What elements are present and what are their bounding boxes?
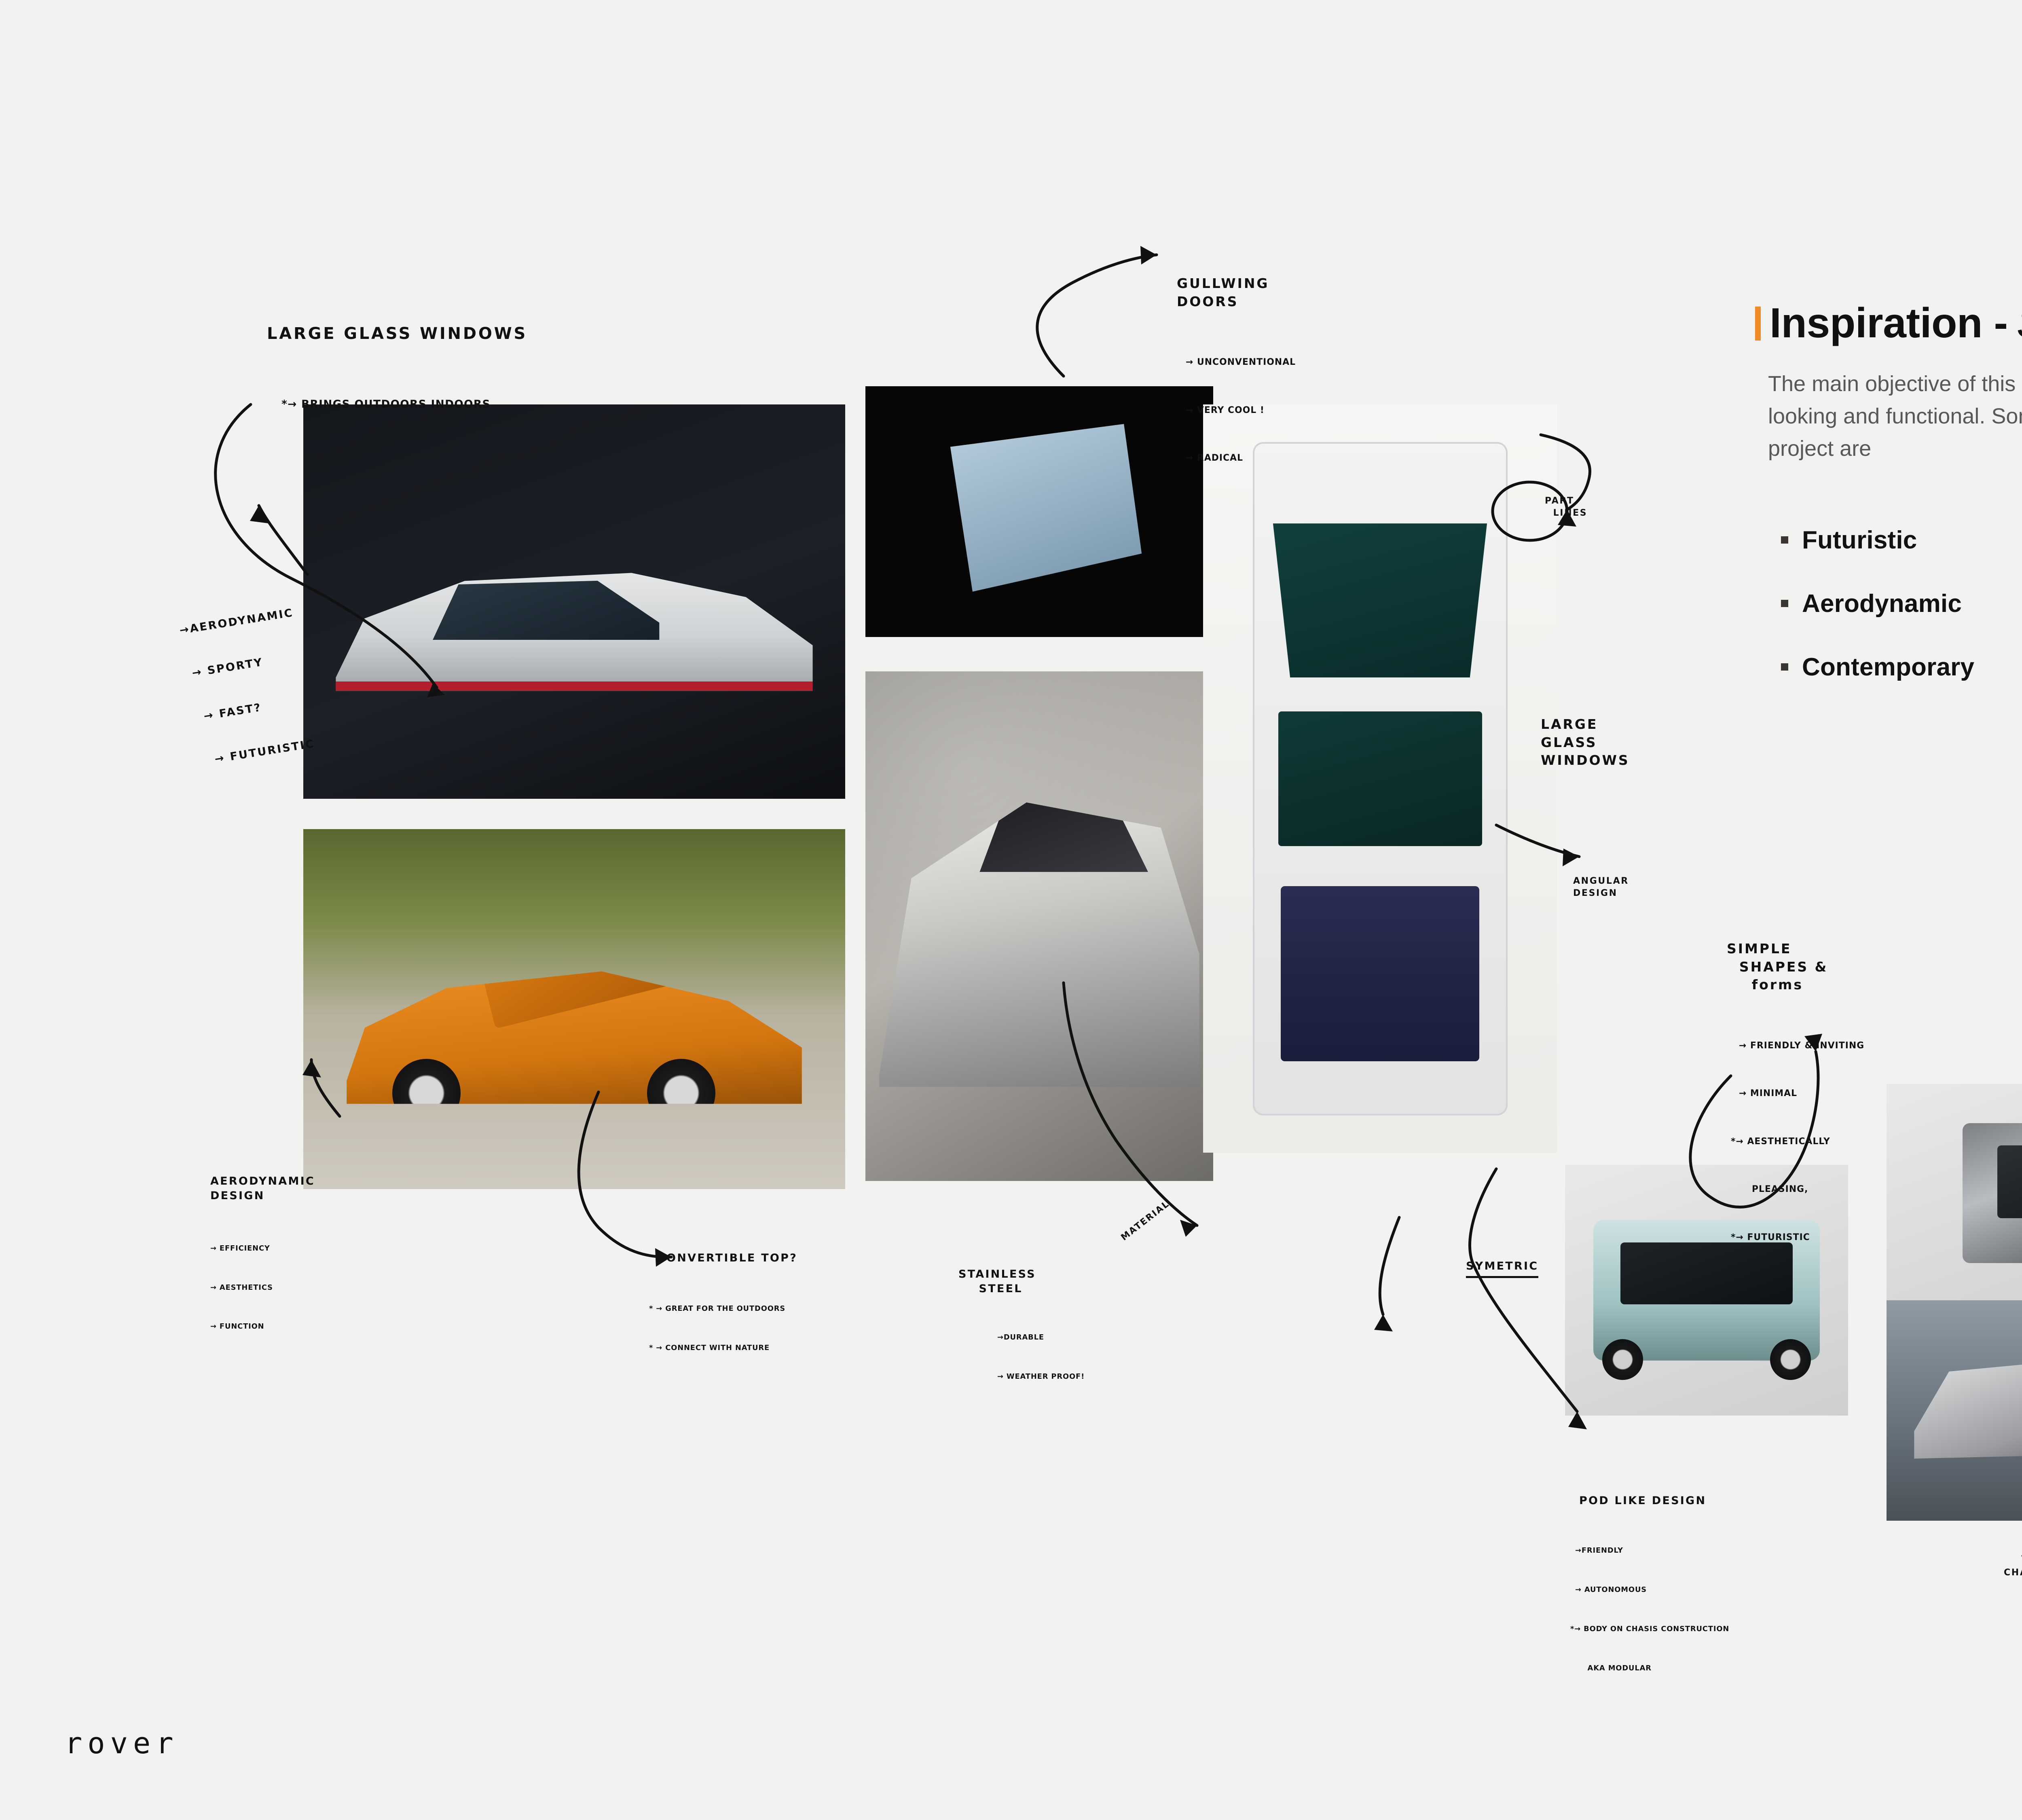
annotation-line: → EFFICIENCY [210, 1244, 315, 1253]
glass-volume [928, 416, 1151, 607]
annotation-line: →FRIENDLY [1575, 1546, 1729, 1555]
annotation-large-glass-windows-left: LARGE GLASS WINDOWS *→ BRINGS OUTDOORS I… [267, 279, 527, 455]
list-item: Contemporary [1781, 653, 2022, 681]
reference-image-camper-top-view-sketch [1203, 404, 1557, 1153]
objective-paragraph: The main objective of this project was t… [1768, 368, 2022, 465]
annotation-title: PART LINES [1545, 495, 1587, 519]
inspiration-text-panel: Inspiration - Styling&Form The main obje… [1755, 301, 2022, 716]
square-bullet-icon [1781, 536, 1788, 544]
annotation-title: ANGULAR DESIGN [1573, 875, 1629, 899]
annotation-line: → UNCONVENTIONAL [1186, 356, 1296, 368]
list-item: Futuristic [1781, 526, 2022, 554]
side-window [1278, 711, 1482, 846]
annotation-title: POD LIKE DESIGN [1579, 1494, 1729, 1508]
annotation-title: AERODYNAMIC DESIGN [210, 1174, 315, 1204]
annotation-title: LARGE GLASS WINDOWS [267, 323, 527, 345]
annotation-line: → AUTONOMOUS [1575, 1585, 1729, 1595]
title-italic: Styling&Form [2017, 301, 2022, 345]
car-silhouette [879, 783, 1199, 1099]
annotation-title: SYMETRIC [1466, 1259, 1538, 1278]
reference-image-wedge-concept-car [303, 404, 845, 799]
wheel [647, 1059, 715, 1127]
annotation-line: →DURABLE [997, 1333, 1085, 1342]
annotation-line: AKA MODULAR [1570, 1663, 1729, 1673]
annotation-line: → AESTHETICS [210, 1283, 315, 1293]
annotation-line: PLEASING, [1731, 1183, 1864, 1195]
wheel [1602, 1339, 1643, 1380]
cue-label: Aerodynamic [1802, 589, 1962, 618]
annotation-title: LARGE GLASS WINDOWS [1541, 715, 1630, 770]
annotation-aerodynamic-design: AERODYNAMIC DESIGN → EFFICIENCY → AESTHE… [210, 1145, 315, 1361]
annotation-stainless-steel: STAINLESS STEEL →DURABLE → WEATHER PROOF… [958, 1238, 1085, 1411]
annotation-title: SIMPLE SHAPES & forms [1727, 940, 1864, 994]
annotation-line: → MINIMAL [1739, 1088, 1864, 1099]
annotation-line: → FUTURISTIC [214, 736, 316, 767]
annotation-simple-shapes-forms: SIMPLE SHAPES & forms → FRIENDLY & INVIT… [1727, 904, 1864, 1279]
annotation-title: CHAMFERS [2004, 1567, 2022, 1579]
annotation-chamfers: CHAMFERS [2004, 1543, 2022, 1603]
window-panel [1997, 1145, 2022, 1218]
annotation-line: *→ BRINGS OUTDOORS INDOORS [281, 397, 527, 412]
car-silhouette [336, 562, 812, 696]
annotation-symetric: SYMETRIC [1466, 1230, 1538, 1308]
annotation-line: → WEATHER PROOF! [997, 1372, 1085, 1382]
aesthetic-cues-list: Futuristic Aerodynamic Contemporary [1781, 526, 2022, 681]
annotation-line: * → GREAT FOR THE OUTDOORS [649, 1304, 797, 1314]
annotation-line: → FAST? [203, 693, 309, 724]
cue-label: Futuristic [1802, 526, 1917, 554]
reference-image-autonomous-shuttle [1887, 1300, 2022, 1521]
rear-section [1281, 886, 1479, 1061]
reference-image-glass-box-concept [865, 386, 1213, 637]
annotation-material-callout: MATERIAL [1104, 1179, 1187, 1263]
annotation-gullwing-doors: GULLWING DOORS → UNCONVENTIONAL → VERY C… [1177, 239, 1296, 500]
page-title: Inspiration - Styling&Form [1755, 301, 2022, 345]
annotation-pod-like-design: POD LIKE DESIGN →FRIENDLY → AUTONOMOUS *… [1579, 1464, 1729, 1703]
annotation-line: → FUNCTION [210, 1322, 315, 1331]
annotation-line: → RADICAL [1186, 452, 1296, 464]
cue-label: Contemporary [1802, 653, 1974, 681]
reference-image-stainless-steel-body [865, 671, 1213, 1181]
annotation-part-lines: PART LINES [1545, 471, 1587, 543]
annotation-line: →AERODYNAMIC [178, 605, 295, 638]
reference-image-grey-pod-render [1887, 1084, 2022, 1302]
roof [969, 790, 1148, 872]
windshield [1273, 502, 1487, 677]
car-silhouette [347, 952, 802, 1117]
annotation-convertible-top: CONVERTIBLE TOP? * → GREAT FOR THE OUTDO… [657, 1221, 797, 1382]
annotation-line: → SPORTY [191, 649, 302, 681]
annotation-aerodynamic-sporty-list: →AERODYNAMIC → SPORTY → FAST? → FUTURIST… [174, 576, 320, 798]
square-bullet-icon [1781, 663, 1788, 671]
list-item: Aerodynamic [1781, 589, 2022, 618]
pod-body [1963, 1123, 2022, 1263]
annotation-large-glass-windows-center: LARGE GLASS WINDOWS [1541, 679, 1630, 806]
annotation-line: *→ FUTURISTIC [1731, 1232, 1864, 1243]
annotation-title: CONVERTIBLE TOP? [657, 1251, 797, 1266]
annotation-line: *→ AESTHETICALLY [1731, 1136, 1864, 1147]
brand-logo: rover [65, 1726, 179, 1760]
annotation-title: GULLWING DOORS [1177, 275, 1296, 311]
inspiration-mood-board: LARGE GLASS WINDOWS *→ BRINGS OUTDOORS I… [0, 0, 2022, 1820]
camper-top-view [1253, 442, 1508, 1115]
accent-tick-icon [1755, 307, 1761, 341]
annotation-line: * → CONNECT WITH NATURE [649, 1343, 797, 1353]
annotation-line: → VERY COOL ! [1186, 404, 1296, 416]
annotation-angular-design: ANGULAR DESIGN [1573, 851, 1629, 923]
shuttle-body [1914, 1353, 2022, 1468]
wheel [1770, 1339, 1811, 1380]
annotation-title: STAINLESS STEEL [958, 1267, 1085, 1297]
annotation-title: MATERIAL [1119, 1198, 1172, 1244]
annotation-line: → FRIENDLY & INVITING [1739, 1040, 1864, 1052]
title-lead: Inspiration - [1770, 301, 2008, 345]
accent-stripe [336, 681, 812, 691]
reference-image-orange-gullwing-car [303, 829, 845, 1189]
glass-area [412, 578, 670, 640]
square-bullet-icon [1781, 600, 1788, 607]
wheel [392, 1059, 461, 1127]
gullwing-door [476, 908, 672, 1029]
annotation-line: *→ BODY ON CHASIS CONSTRUCTION [1570, 1624, 1729, 1634]
